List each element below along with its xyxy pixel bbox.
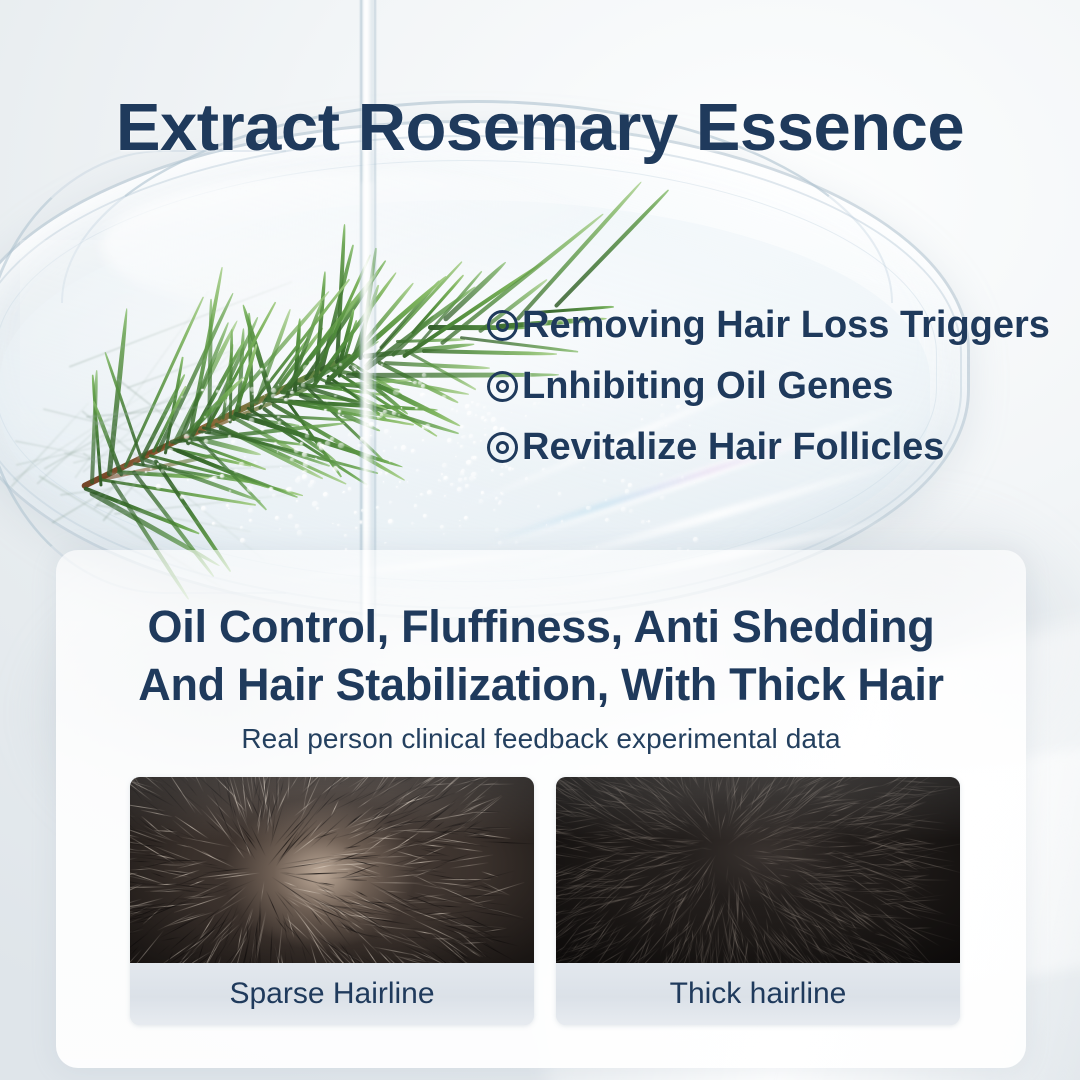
water-bubble — [444, 495, 446, 497]
water-bubble — [271, 388, 276, 393]
water-bubble — [261, 403, 263, 405]
double-circle-bullet-icon — [487, 432, 518, 463]
water-bubble — [422, 439, 425, 442]
water-bubble — [298, 409, 299, 410]
water-bubble — [396, 486, 398, 488]
water-bubble — [498, 502, 501, 505]
water-bubble — [432, 420, 434, 422]
water-bubble — [464, 477, 468, 481]
water-bubble — [660, 473, 663, 476]
water-bubble — [416, 496, 418, 498]
water-bubble — [448, 440, 450, 442]
water-bubble — [366, 417, 368, 419]
water-bubble — [272, 494, 276, 498]
water-bubble — [385, 542, 386, 543]
water-bubble — [462, 435, 467, 440]
water-bubble — [316, 507, 319, 510]
water-bubble — [495, 528, 499, 532]
water-bubble — [181, 396, 183, 398]
water-bubble — [561, 520, 563, 522]
water-bubble — [271, 394, 275, 398]
water-bubble — [249, 418, 253, 422]
water-bubble — [451, 408, 454, 411]
water-bubble — [450, 483, 454, 487]
double-circle-bullet-icon — [487, 310, 518, 341]
water-bubble — [474, 477, 476, 479]
water-bubble — [264, 395, 265, 396]
water-bubble — [348, 487, 351, 490]
water-bubble — [323, 492, 328, 497]
water-bubble — [621, 507, 626, 512]
water-bubble — [465, 484, 469, 488]
water-bubble — [343, 491, 344, 492]
benefit-item: Revitalize Hair Follicles — [487, 427, 1067, 468]
water-bubble — [423, 514, 428, 519]
water-bubble — [356, 480, 357, 481]
water-bubble — [381, 364, 383, 366]
water-bubble — [212, 476, 216, 480]
water-bubble — [425, 404, 426, 405]
water-bubble — [455, 456, 457, 458]
water-bubble — [220, 474, 224, 478]
benefit-label: Removing Hair Loss Triggers — [522, 305, 1050, 346]
water-bubble — [383, 481, 384, 482]
water-bubble — [303, 462, 308, 467]
water-bubble — [376, 506, 379, 509]
water-bubble — [273, 410, 278, 415]
water-bubble — [292, 396, 296, 400]
water-bubble — [525, 477, 529, 481]
benefit-item: Lnhibiting Oil Genes — [487, 366, 1067, 407]
card-heading-line-2: And Hair Stabilization, With Thick Hair — [56, 656, 1026, 714]
page-title: Extract Rosemary Essence — [0, 94, 1080, 161]
water-bubble — [464, 516, 468, 520]
water-bubble — [498, 541, 502, 545]
water-bubble — [377, 416, 379, 418]
water-bubble — [260, 368, 263, 371]
water-bubble — [366, 452, 371, 457]
water-bubble — [693, 537, 698, 542]
water-bubble — [338, 410, 341, 413]
water-bubble — [204, 439, 208, 443]
water-bubble — [390, 436, 391, 437]
photo-vignette — [130, 777, 534, 963]
water-bubble — [401, 460, 403, 462]
water-bubble — [394, 446, 398, 450]
water-bubble — [266, 377, 270, 381]
water-bubble — [460, 445, 463, 448]
water-bubble — [167, 466, 168, 467]
water-bubble — [398, 414, 400, 416]
water-bubble — [456, 410, 459, 413]
water-bubble — [186, 408, 188, 410]
water-bubble — [321, 436, 322, 437]
water-bubble — [250, 387, 255, 392]
water-bubble — [442, 463, 447, 468]
water-bubble — [145, 471, 147, 473]
double-circle-bullet-icon — [487, 371, 518, 402]
water-bubble — [460, 425, 464, 429]
water-bubble — [339, 363, 342, 366]
water-bubble — [204, 416, 206, 418]
panel-caption-sparse: Sparse Hairline — [130, 963, 534, 1025]
water-bubble — [290, 391, 294, 395]
water-bubble — [240, 526, 243, 529]
water-bubble — [214, 382, 218, 386]
water-bubble — [383, 450, 385, 452]
water-bubble — [465, 404, 469, 408]
water-bubble — [457, 442, 460, 445]
water-bubble — [228, 419, 231, 422]
water-bubble — [360, 437, 365, 442]
water-bubble — [297, 530, 302, 535]
water-bubble — [333, 466, 339, 472]
water-bubble — [261, 428, 263, 430]
water-bubble — [475, 414, 478, 417]
water-bubble — [483, 406, 486, 409]
water-bubble — [443, 476, 447, 480]
water-bubble — [546, 524, 548, 526]
water-bubble — [150, 468, 151, 469]
card-subheading: Real person clinical feedback experiment… — [56, 723, 1026, 755]
water-bubble — [481, 416, 485, 420]
water-bubble — [694, 482, 695, 483]
water-bubble — [254, 461, 257, 464]
water-bubble — [295, 524, 299, 528]
water-bubble — [440, 525, 444, 529]
water-bubble — [383, 410, 387, 414]
water-bubble — [425, 424, 431, 430]
water-bubble — [596, 546, 598, 548]
water-bubble — [481, 491, 485, 495]
water-bubble — [277, 433, 279, 435]
water-bubble — [629, 509, 633, 513]
water-bubble — [605, 499, 607, 501]
water-bubble — [420, 393, 424, 397]
water-bubble — [388, 519, 393, 524]
water-bubble — [681, 476, 683, 478]
water-bubble — [288, 514, 293, 519]
water-bubble — [491, 469, 494, 472]
water-bubble — [365, 399, 367, 401]
water-bubble — [542, 468, 545, 471]
water-bubble — [326, 400, 328, 402]
water-bubble — [515, 541, 518, 544]
water-bubble — [354, 369, 356, 371]
water-bubble — [399, 481, 401, 483]
water-bubble — [415, 407, 417, 409]
benefits-list: Removing Hair Loss Triggers Lnhibiting O… — [487, 305, 1067, 468]
water-bubble — [244, 456, 246, 458]
water-bubble — [476, 403, 480, 407]
water-bubble — [201, 389, 203, 391]
scalp-thick-hairline-photo — [556, 777, 960, 963]
benefit-label: Revitalize Hair Follicles — [522, 427, 944, 468]
water-bubble — [157, 463, 159, 465]
water-bubble — [344, 534, 347, 537]
water-bubble — [234, 469, 238, 473]
water-bubble — [355, 527, 358, 530]
water-bubble — [212, 522, 215, 525]
comparison-panel-thick: Thick hairline — [556, 777, 960, 1025]
water-bubble — [247, 486, 253, 492]
water-bubble — [459, 525, 461, 527]
water-bubble — [252, 393, 254, 395]
water-bubble — [416, 469, 419, 472]
water-bubble — [179, 410, 183, 414]
water-bubble — [317, 442, 322, 447]
water-bubble — [385, 472, 388, 475]
water-bubble — [278, 384, 280, 386]
water-bubble — [203, 433, 205, 435]
water-bubble — [334, 395, 336, 397]
benefit-label: Lnhibiting Oil Genes — [522, 366, 894, 407]
water-bubble — [181, 458, 183, 460]
water-bubble — [370, 435, 372, 437]
water-bubble — [308, 483, 313, 488]
water-bubble — [407, 481, 409, 483]
water-bubble — [393, 390, 398, 395]
water-bubble — [264, 426, 265, 427]
water-bubble — [303, 365, 308, 370]
water-bubble — [310, 480, 315, 485]
water-bubble — [364, 484, 369, 489]
water-bubble — [401, 445, 406, 450]
water-bubble — [168, 448, 173, 453]
water-bubble — [411, 449, 415, 453]
water-bubble — [315, 458, 317, 460]
water-bubble — [305, 434, 309, 438]
water-bubble — [284, 398, 287, 401]
water-bubble — [471, 401, 474, 404]
water-bubble — [296, 500, 298, 502]
water-bubble — [466, 460, 472, 466]
water-bubble — [290, 458, 294, 462]
water-bubble — [336, 473, 338, 475]
water-bubble — [369, 422, 374, 427]
water-bubble — [332, 523, 333, 524]
water-bubble — [621, 479, 625, 483]
water-bubble — [324, 409, 326, 411]
water-bubble — [302, 452, 308, 458]
water-bubble — [641, 520, 645, 524]
water-bubble — [459, 520, 461, 522]
water-bubble — [484, 428, 485, 429]
water-bubble — [269, 487, 273, 491]
water-bubble — [413, 381, 417, 385]
water-bubble — [537, 505, 540, 508]
water-bubble — [427, 378, 430, 381]
water-bubble — [479, 499, 484, 504]
water-bubble — [306, 431, 308, 433]
card-heading-line-1: Oil Control, Fluffiness, Anti Shedding — [148, 601, 935, 652]
water-bubble — [380, 413, 384, 417]
water-bubble — [480, 440, 482, 442]
water-bubble — [411, 522, 414, 525]
water-bubble — [239, 462, 244, 467]
water-bubble — [500, 473, 503, 476]
water-bubble — [422, 373, 426, 377]
water-bubble — [358, 444, 362, 448]
water-bubble — [225, 399, 230, 404]
water-bubble — [605, 518, 609, 522]
photo-vignette — [556, 777, 960, 963]
water-bubble — [228, 508, 230, 510]
benefit-item: Removing Hair Loss Triggers — [487, 305, 1067, 346]
water-bubble — [188, 440, 190, 442]
water-bubble — [156, 484, 161, 489]
water-bubble — [279, 528, 281, 530]
water-bubble — [240, 538, 245, 543]
water-bubble — [376, 425, 380, 429]
water-bubble — [338, 414, 340, 416]
water-bubble — [277, 416, 279, 418]
water-bubble — [427, 490, 432, 495]
water-bubble — [301, 383, 305, 387]
water-bubble — [302, 474, 307, 479]
water-bubble — [501, 493, 503, 495]
claims-card: Oil Control, Fluffiness, Anti Shedding A… — [56, 550, 1026, 1068]
water-bubble — [325, 441, 329, 445]
water-bubble — [471, 456, 475, 460]
water-bubble — [558, 492, 561, 495]
water-bubble — [287, 487, 291, 491]
water-bubble — [457, 487, 462, 492]
water-bubble — [625, 489, 629, 493]
water-bubble — [469, 434, 474, 439]
water-bubble — [231, 440, 235, 444]
water-bubble — [338, 443, 344, 449]
water-bubble — [280, 467, 282, 469]
water-bubble — [278, 421, 282, 425]
water-bubble — [342, 389, 343, 390]
water-bubble — [389, 501, 392, 504]
water-bubble — [628, 483, 633, 488]
water-bubble — [414, 504, 418, 508]
water-bubble — [361, 509, 364, 512]
card-heading: Oil Control, Fluffiness, Anti Shedding A… — [56, 598, 1026, 713]
water-bubble — [294, 448, 299, 453]
water-bubble — [228, 435, 231, 438]
water-bubble — [401, 407, 403, 409]
water-bubble — [458, 478, 462, 482]
water-bubble — [201, 506, 206, 511]
water-bubble — [248, 508, 253, 513]
water-bubble — [229, 490, 231, 492]
water-bubble — [275, 516, 279, 520]
water-bubble — [384, 429, 389, 434]
water-bubble — [603, 479, 606, 482]
water-bubble — [442, 395, 446, 399]
water-bubble — [216, 390, 219, 393]
water-bubble — [420, 493, 423, 496]
water-bubble — [493, 509, 495, 511]
water-bubble — [648, 520, 650, 522]
before-after-comparison: Sparse Hairline Thick hairline — [130, 777, 960, 1025]
water-bubble — [161, 469, 165, 473]
water-bubble — [187, 479, 189, 481]
water-bubble — [342, 415, 344, 417]
water-bubble — [586, 506, 590, 510]
water-bubble — [180, 495, 184, 499]
water-bubble — [242, 379, 244, 381]
water-bubble — [443, 533, 445, 535]
water-bubble — [337, 524, 340, 527]
water-bubble — [495, 497, 498, 500]
water-bubble — [467, 411, 472, 416]
scalp-sparse-hairline-photo — [130, 777, 534, 963]
water-bubble — [184, 434, 189, 439]
water-bubble — [382, 368, 385, 371]
water-bubble — [473, 441, 476, 444]
water-bubble — [389, 460, 391, 462]
water-bubble — [348, 433, 351, 436]
product-marketing-poster: Extract Rosemary Essence Removing Hair L… — [0, 0, 1080, 1080]
water-bubble — [354, 511, 357, 514]
water-bubble — [302, 471, 304, 473]
water-bubble — [309, 361, 313, 365]
water-bubble — [421, 384, 425, 388]
water-bubble — [227, 506, 229, 508]
water-bubble — [238, 432, 239, 433]
water-bubble — [249, 519, 252, 522]
panel-caption-thick: Thick hairline — [556, 963, 960, 1025]
water-bubble — [274, 442, 277, 445]
water-bubble — [660, 496, 665, 501]
water-bubble — [392, 411, 396, 415]
water-bubble — [300, 442, 303, 445]
water-bubble — [330, 437, 334, 441]
water-bubble — [440, 480, 442, 482]
comparison-panel-sparse: Sparse Hairline — [130, 777, 534, 1025]
water-bubble — [277, 451, 279, 453]
